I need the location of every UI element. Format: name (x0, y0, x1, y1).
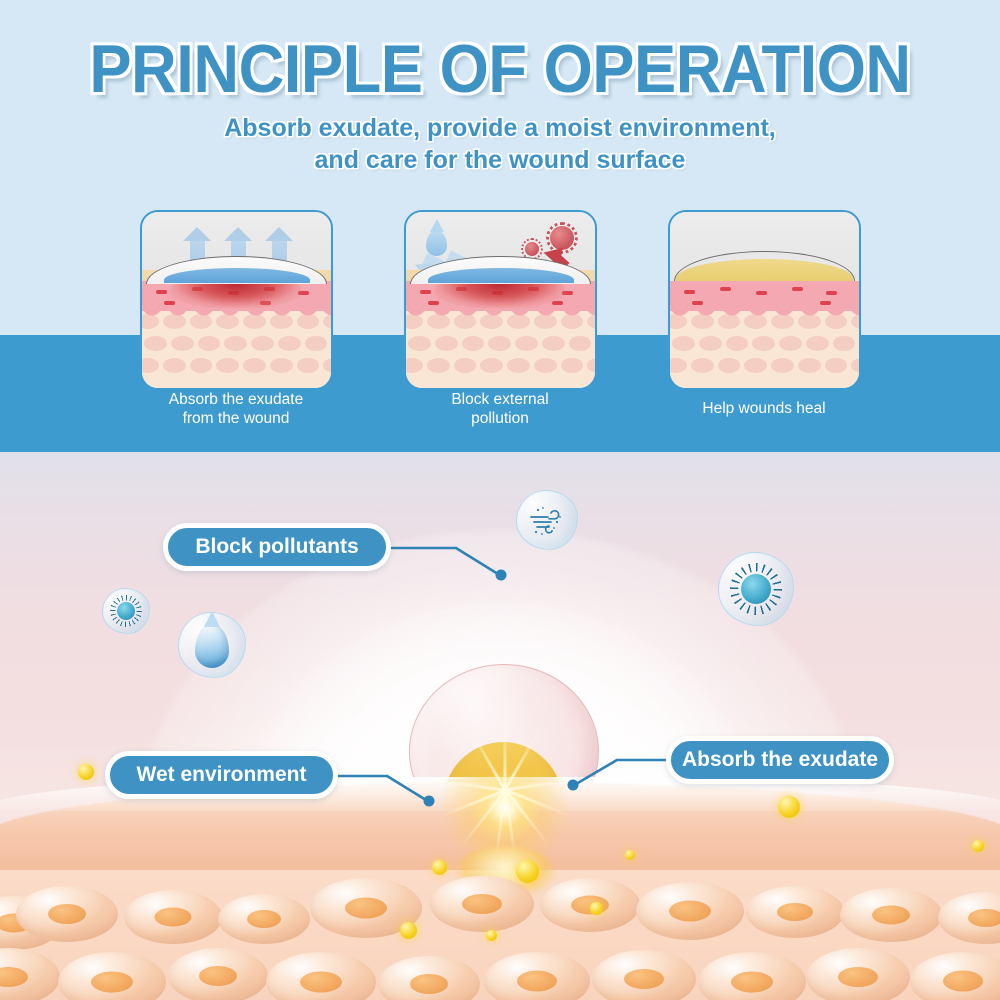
subtitle-line-1: Absorb exudate, provide a moist environm… (0, 112, 1000, 144)
virus-icon-bubble-right (718, 552, 794, 626)
skin-cell (840, 888, 942, 942)
gold-microdroplet (972, 840, 984, 852)
panel-help-wounds-heal (668, 210, 861, 390)
wind-icon (527, 502, 567, 538)
gold-microdroplet (486, 930, 497, 941)
callout-absorb-the-exudate[interactable]: Absorb the exudate (666, 736, 894, 784)
water-droplet-icon (195, 624, 229, 668)
leader-line-wet-environment (330, 772, 440, 817)
skin-cell (910, 952, 1000, 1000)
water-droplet-icon (426, 230, 447, 256)
panel-label-line-2: from the wound (183, 410, 290, 427)
page-subtitle: Absorb exudate, provide a moist environm… (0, 112, 1000, 176)
gold-microdroplet (432, 860, 447, 875)
gold-microdroplet (78, 764, 94, 780)
gold-microdroplet (590, 902, 603, 915)
gold-microdroplet (625, 850, 635, 860)
skin-cell (218, 894, 310, 944)
panel-label-line-1: Block external (451, 391, 548, 408)
skin-cell (938, 892, 1000, 944)
skin-cell (636, 882, 744, 940)
panel-absorb-exudate (140, 210, 333, 390)
skin-cell (58, 952, 166, 1000)
callout-label: Block pollutants (195, 535, 358, 559)
infographic-page: PRINCIPLE OF OPERATION Absorb exudate, p… (0, 0, 1000, 1000)
panel-label-help-heal: Help wounds heal (634, 399, 894, 418)
wind-icon-bubble (516, 490, 578, 550)
callout-label: Wet environment (137, 763, 307, 787)
skin-cell (746, 886, 844, 938)
virus-core (741, 574, 771, 604)
callout-wet-environment[interactable]: Wet environment (105, 751, 338, 799)
panel-label-absorb-exudate: Absorb the exudate from the wound (106, 390, 366, 428)
skin-cell (592, 950, 696, 1000)
skin-cell (698, 952, 806, 1000)
callout-label: Absorb the exudate (682, 748, 878, 772)
panel-label-line-2: pollution (471, 410, 529, 427)
leader-line-block-pollutants (385, 534, 520, 584)
light-ray (504, 720, 507, 790)
leader-line-absorb-exudate (566, 752, 681, 802)
epidermis-layer (670, 281, 859, 311)
gold-microdroplet (400, 922, 417, 939)
panel-label-line-1: Help wounds heal (702, 400, 825, 417)
skin-cell-field (0, 852, 1000, 1000)
skin-cell (806, 948, 910, 1000)
gold-microdroplet (516, 860, 539, 883)
page-title: PRINCIPLE OF OPERATION (35, 30, 965, 108)
skin-cell (168, 948, 268, 1000)
skin-cell (16, 886, 118, 942)
hero-illustration: Block pollutants Wet environment Absorb … (0, 452, 1000, 1000)
panel-block-pollution (404, 210, 597, 390)
subtitle-line-2: and care for the wound surface (0, 144, 1000, 176)
water-droplet-icon-bubble (178, 612, 246, 678)
panel-label-block-pollution: Block external pollution (370, 390, 630, 428)
virus-core (117, 602, 135, 620)
skin-cell (378, 956, 480, 1000)
skin-cell (124, 890, 222, 944)
gold-microdroplet (778, 796, 800, 818)
skin-cell (266, 952, 376, 1000)
skin-cell (430, 876, 534, 932)
germ-icon (525, 242, 539, 256)
panel-label-line-1: Absorb the exudate (169, 391, 303, 408)
skin-cell (484, 952, 590, 1000)
skin-cell (0, 948, 60, 1000)
virus-icon-bubble-left (102, 588, 150, 634)
feature-panels (0, 210, 1000, 390)
callout-block-pollutants[interactable]: Block pollutants (163, 523, 391, 571)
